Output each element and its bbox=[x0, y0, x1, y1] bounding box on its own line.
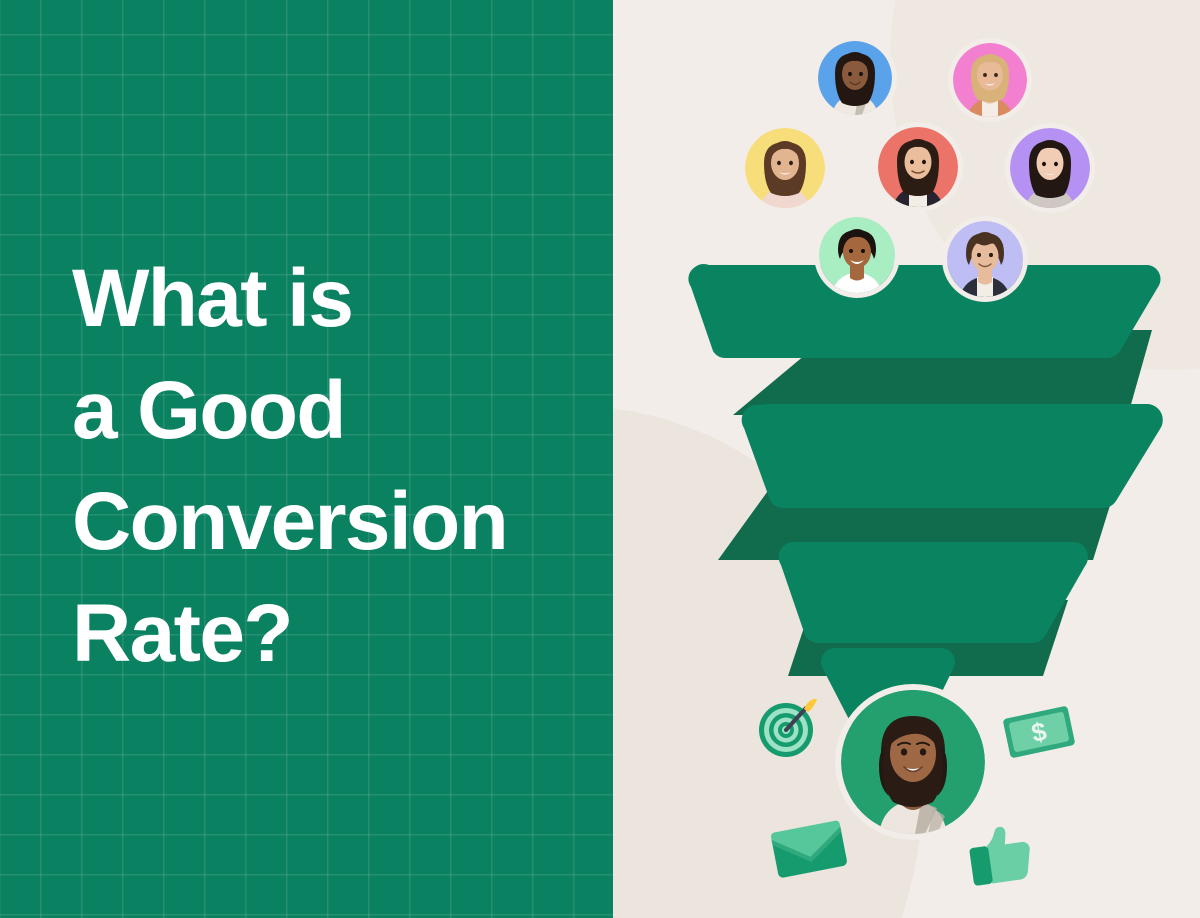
envelope-mail-icon bbox=[768, 816, 852, 882]
featured-avatar-converted-customer[interactable] bbox=[841, 690, 985, 834]
avatar-person-6[interactable] bbox=[819, 217, 895, 293]
thumbs-up-icon bbox=[962, 818, 1040, 888]
avatar-person-7[interactable] bbox=[947, 221, 1023, 297]
avatar-person-2[interactable] bbox=[953, 43, 1027, 117]
avatar-person-5[interactable] bbox=[1010, 128, 1090, 208]
funnel-front-faces bbox=[688, 264, 1162, 738]
avatar-person-4[interactable] bbox=[878, 127, 958, 207]
avatar-person-3[interactable] bbox=[745, 128, 825, 208]
dollar-bill-icon: $ bbox=[1000, 700, 1078, 764]
poster-canvas: What is a Good Conversion Rate? bbox=[0, 0, 1200, 918]
left-title-panel: What is a Good Conversion Rate? bbox=[0, 0, 613, 918]
right-illustration-panel: $ bbox=[613, 0, 1200, 918]
avatar-person-1[interactable] bbox=[818, 41, 892, 115]
target-bullseye-icon bbox=[752, 688, 824, 760]
page-title: What is a Good Conversion Rate? bbox=[72, 243, 602, 689]
